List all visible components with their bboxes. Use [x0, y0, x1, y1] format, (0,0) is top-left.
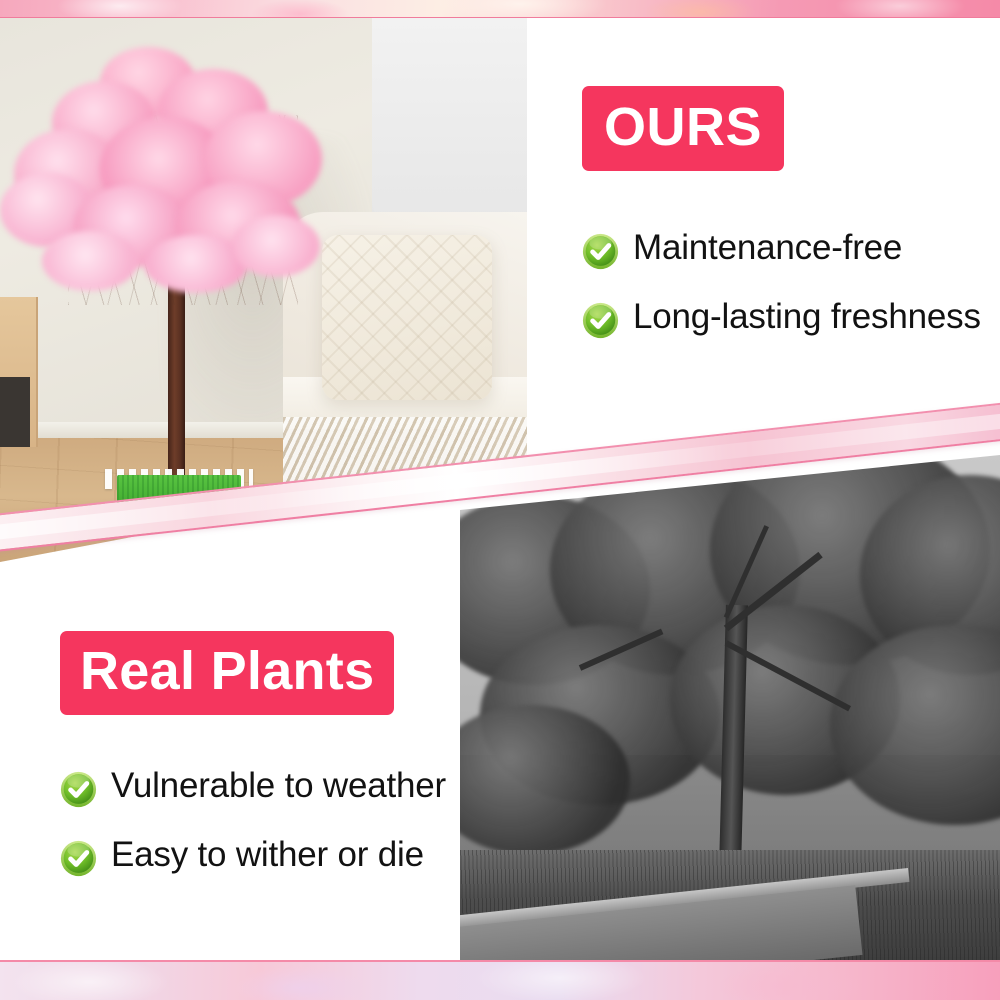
list-item-label: Vulnerable to weather [111, 765, 446, 806]
real-plants-badge: Real Plants [60, 631, 394, 715]
list-item-label: Maintenance-free [633, 227, 902, 268]
real-plants-photo [460, 455, 1000, 963]
comparison-infographic: OURS [0, 0, 1000, 1000]
real-plants-panel: Real Plants Vulnerable to weather [60, 631, 460, 903]
ours-panel: OURS [582, 86, 982, 365]
list-item-label: Long-lasting freshness [633, 296, 981, 337]
list-item: Vulnerable to weather [60, 765, 460, 808]
list-item: Easy to wither or die [60, 834, 460, 877]
sofa-pillow [322, 235, 492, 400]
green-check-icon [582, 233, 619, 270]
baseboard [0, 422, 330, 438]
list-item: Maintenance-free [582, 227, 982, 270]
green-check-icon [582, 302, 619, 339]
nightstand-shadow [0, 377, 30, 447]
green-check-icon [60, 771, 97, 808]
ours-bullet-list: Maintenance-free Long-lasting freshness [582, 227, 982, 339]
top-floral-banner [0, 0, 1000, 18]
blossom-canopy [8, 55, 338, 285]
list-item-label: Easy to wither or die [111, 834, 424, 875]
ours-badge: OURS [582, 86, 784, 171]
bottom-floral-banner [0, 960, 1000, 1000]
green-check-icon [60, 840, 97, 877]
list-item: Long-lasting freshness [582, 296, 982, 339]
real-plants-bullet-list: Vulnerable to weather Easy to wither or … [60, 765, 460, 877]
